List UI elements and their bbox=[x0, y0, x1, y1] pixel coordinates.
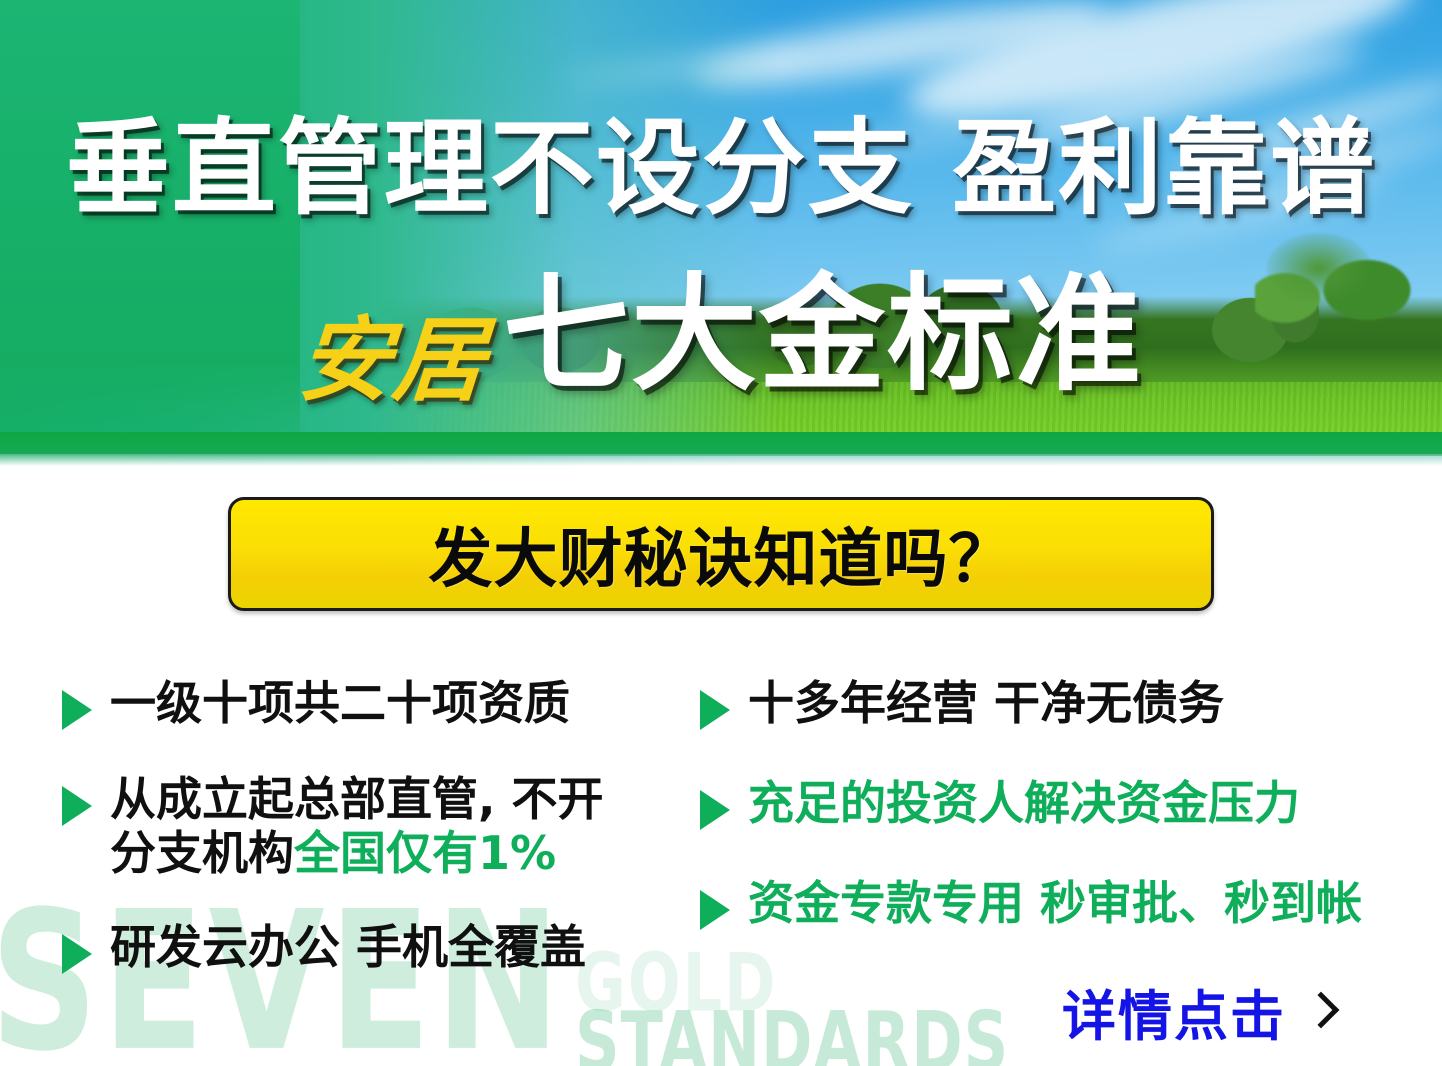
feature-item: 充足的投资人解决资金压力 bbox=[700, 776, 1300, 830]
callout-text: 发大财秘诀知道吗？ bbox=[429, 508, 1014, 600]
triangle-right-icon bbox=[62, 690, 92, 730]
triangle-right-icon bbox=[700, 790, 730, 830]
feature-body: 十多年经营 干净无债务 bbox=[748, 676, 1224, 730]
feature-body: 资金专款专用 秒审批、秒到帐 bbox=[748, 876, 1362, 930]
cta-label: 详情点击 bbox=[1062, 972, 1286, 1051]
hero-brand-text: 安居 bbox=[296, 314, 490, 406]
feature-line: 从成立起总部直管, 不开 bbox=[110, 772, 604, 826]
feature-item: 十多年经营 干净无债务 bbox=[700, 676, 1224, 730]
triangle-right-icon bbox=[700, 890, 730, 930]
feature-columns: 一级十项共二十项资质 从成立起总部直管, 不开 分支机构全国仅有1% 研发云办公… bbox=[0, 660, 1442, 1000]
feature-text-plain: 分支机构 bbox=[110, 826, 294, 880]
feature-item: 一级十项共二十项资质 bbox=[62, 676, 570, 730]
hero-bottom-fade bbox=[0, 454, 1442, 466]
feature-item: 资金专款专用 秒审批、秒到帐 bbox=[700, 876, 1362, 930]
hero-bottom-strip bbox=[0, 432, 1442, 456]
hero-headline-primary: 垂直管理不设分支 盈利靠谱 bbox=[0, 116, 1442, 220]
feature-line: 分支机构全国仅有1% bbox=[110, 826, 556, 880]
feature-line: 资金专款专用 秒审批、秒到帐 bbox=[748, 876, 1362, 930]
feature-body: 研发云办公 手机全覆盖 bbox=[110, 920, 586, 974]
details-cta-button[interactable]: 详情点击 bbox=[1062, 972, 1334, 1051]
feature-body: 一级十项共二十项资质 bbox=[110, 676, 570, 730]
feature-body: 充足的投资人解决资金压力 bbox=[748, 776, 1300, 830]
chevron-right-icon bbox=[1303, 991, 1340, 1028]
triangle-right-icon bbox=[62, 786, 92, 826]
feature-item: 研发云办公 手机全覆盖 bbox=[62, 920, 586, 974]
triangle-right-icon bbox=[700, 690, 730, 730]
callout-banner[interactable]: 发大财秘诀知道吗？ bbox=[228, 497, 1214, 611]
promo-banner: 垂直管理不设分支 盈利靠谱 安居七大金标准 SEVEN GOLD STANDAR… bbox=[0, 0, 1442, 1066]
feature-line: 充足的投资人解决资金压力 bbox=[748, 776, 1300, 830]
triangle-right-icon bbox=[62, 934, 92, 974]
feature-text-highlight: 全国仅有1% bbox=[294, 826, 556, 880]
hero-section: 垂直管理不设分支 盈利靠谱 安居七大金标准 bbox=[0, 0, 1442, 466]
feature-line: 一级十项共二十项资质 bbox=[110, 676, 570, 730]
feature-line: 研发云办公 手机全覆盖 bbox=[110, 920, 586, 974]
hero-headline-secondary: 七大金标准 bbox=[503, 272, 1143, 398]
feature-line: 十多年经营 干净无债务 bbox=[748, 676, 1224, 730]
feature-body: 从成立起总部直管, 不开 分支机构全国仅有1% bbox=[110, 772, 692, 881]
watermark-standards: STANDARDS bbox=[575, 994, 1009, 1066]
hero-headline-secondary-row: 安居七大金标准 bbox=[0, 272, 1442, 398]
feature-item: 从成立起总部直管, 不开 分支机构全国仅有1% bbox=[62, 772, 692, 881]
